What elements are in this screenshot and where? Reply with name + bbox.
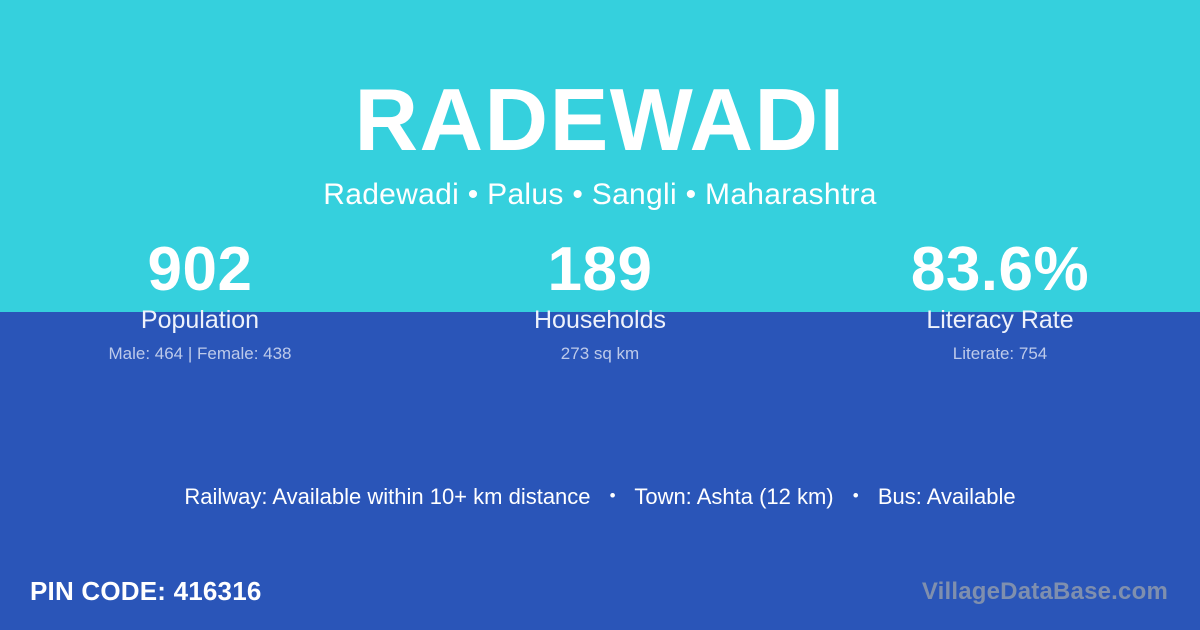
stat-value-households: 189: [400, 238, 800, 301]
stat-label-population: Population: [0, 307, 400, 335]
stat-sub-literacy-rate: Literate: 754: [800, 345, 1200, 364]
stats-row: 902 Population Male: 464 | Female: 438 1…: [0, 238, 1200, 363]
info-railway: Railway: Available within 10+ km distanc…: [184, 484, 590, 509]
stat-value-population: 902: [0, 238, 400, 301]
info-town: Town: Ashta (12 km): [634, 484, 833, 509]
amenities-line: Railway: Available within 10+ km distanc…: [0, 484, 1200, 510]
stat-sub-population: Male: 464 | Female: 438: [0, 345, 400, 364]
stat-population: 902 Population Male: 464 | Female: 438: [0, 238, 400, 363]
card-footer: PIN CODE: 416316 VillageDataBase.com: [0, 573, 1200, 630]
info-separator-icon: •: [597, 486, 629, 506]
page-title: RADEWADI: [0, 0, 1200, 164]
pin-code: PIN CODE: 416316: [30, 576, 262, 607]
brand-watermark: VillageDataBase.com: [922, 578, 1168, 607]
stat-households: 189 Households 273 sq km: [400, 238, 800, 363]
info-bus: Bus: Available: [878, 484, 1016, 509]
stat-sub-households: 273 sq km: [400, 345, 800, 364]
card-header: RADEWADI Radewadi • Palus • Sangli • Mah…: [0, 0, 1200, 211]
stat-value-literacy-rate: 83.6%: [800, 238, 1200, 301]
stat-label-literacy-rate: Literacy Rate: [800, 307, 1200, 335]
stat-literacy-rate: 83.6% Literacy Rate Literate: 754: [800, 238, 1200, 363]
breadcrumb: Radewadi • Palus • Sangli • Maharashtra: [0, 164, 1200, 211]
info-separator-icon: •: [840, 486, 872, 506]
village-info-card: RADEWADI Radewadi • Palus • Sangli • Mah…: [0, 0, 1200, 630]
stat-label-households: Households: [400, 307, 800, 335]
